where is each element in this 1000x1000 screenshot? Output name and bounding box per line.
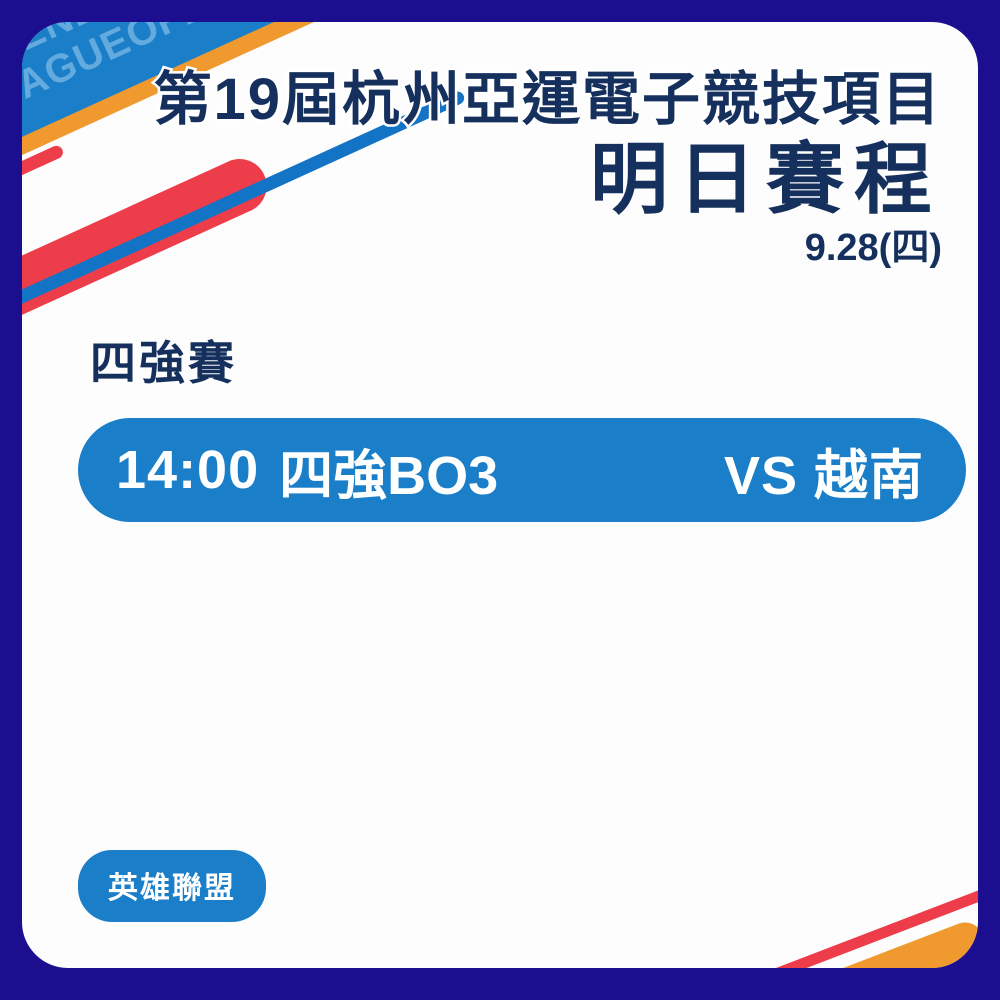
bottom-decoration-stripes	[558, 788, 978, 968]
match-time: 14:00	[116, 439, 259, 501]
game-badge-label: 英雄聯盟	[108, 872, 236, 905]
section-title: 四強賽	[90, 327, 237, 393]
schedule-date: 9.28(四)	[153, 226, 942, 270]
match-row[interactable]: 14:00 四強BO3 VS 越南	[78, 418, 966, 522]
event-title: 第19屆杭州亞運電子競技項目	[153, 68, 942, 132]
poster-root: #LEAGUEOFLEGENDS#ARENAOFVALOR#PUBGMOBILE…	[0, 0, 1000, 1000]
match-stage: 四強BO3	[279, 431, 498, 510]
poster-card: #LEAGUEOFLEGENDS#ARENAOFVALOR#PUBGMOBILE…	[22, 22, 978, 968]
match-opponent: VS 越南	[724, 431, 924, 510]
game-badge[interactable]: 英雄聯盟	[78, 850, 266, 922]
page-title: 明日賽程	[153, 134, 942, 224]
poster-header: 第19屆杭州亞運電子競技項目 明日賽程 9.28(四)	[153, 68, 942, 270]
